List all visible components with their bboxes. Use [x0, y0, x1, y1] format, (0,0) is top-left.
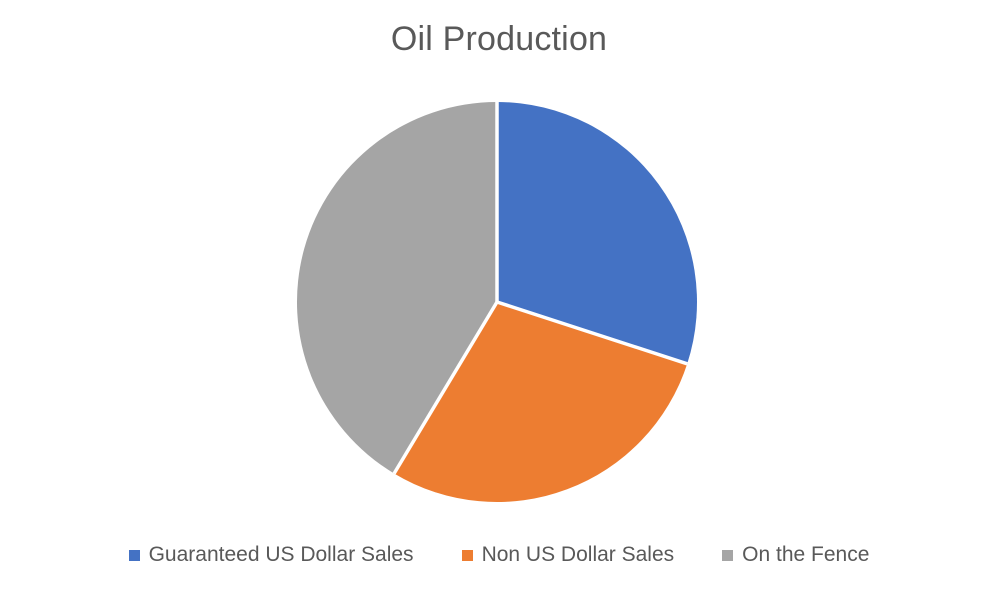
chart-legend: Guaranteed US Dollar Sales Non US Dollar… [0, 542, 998, 568]
legend-item-non-us-dollar-sales[interactable]: Non US Dollar Sales [462, 542, 675, 568]
square-marker-orange-icon [462, 550, 473, 561]
legend-item-guaranteed-us-dollar-sales[interactable]: Guaranteed US Dollar Sales [129, 542, 414, 568]
pie-graphic [269, 88, 729, 516]
square-marker-gray-icon [722, 550, 733, 561]
legend-label-non-us-dollar-sales: Non US Dollar Sales [482, 542, 675, 568]
square-marker-blue-icon [129, 550, 140, 561]
legend-label-guaranteed-us-dollar-sales: Guaranteed US Dollar Sales [149, 542, 414, 568]
plot-area [0, 88, 998, 516]
pie-chart-container: Oil Production Guaranteed US Dollar Sale… [0, 0, 998, 598]
legend-label-on-the-fence: On the Fence [742, 542, 869, 568]
chart-title: Oil Production [0, 17, 998, 61]
legend-item-on-the-fence[interactable]: On the Fence [722, 542, 869, 568]
